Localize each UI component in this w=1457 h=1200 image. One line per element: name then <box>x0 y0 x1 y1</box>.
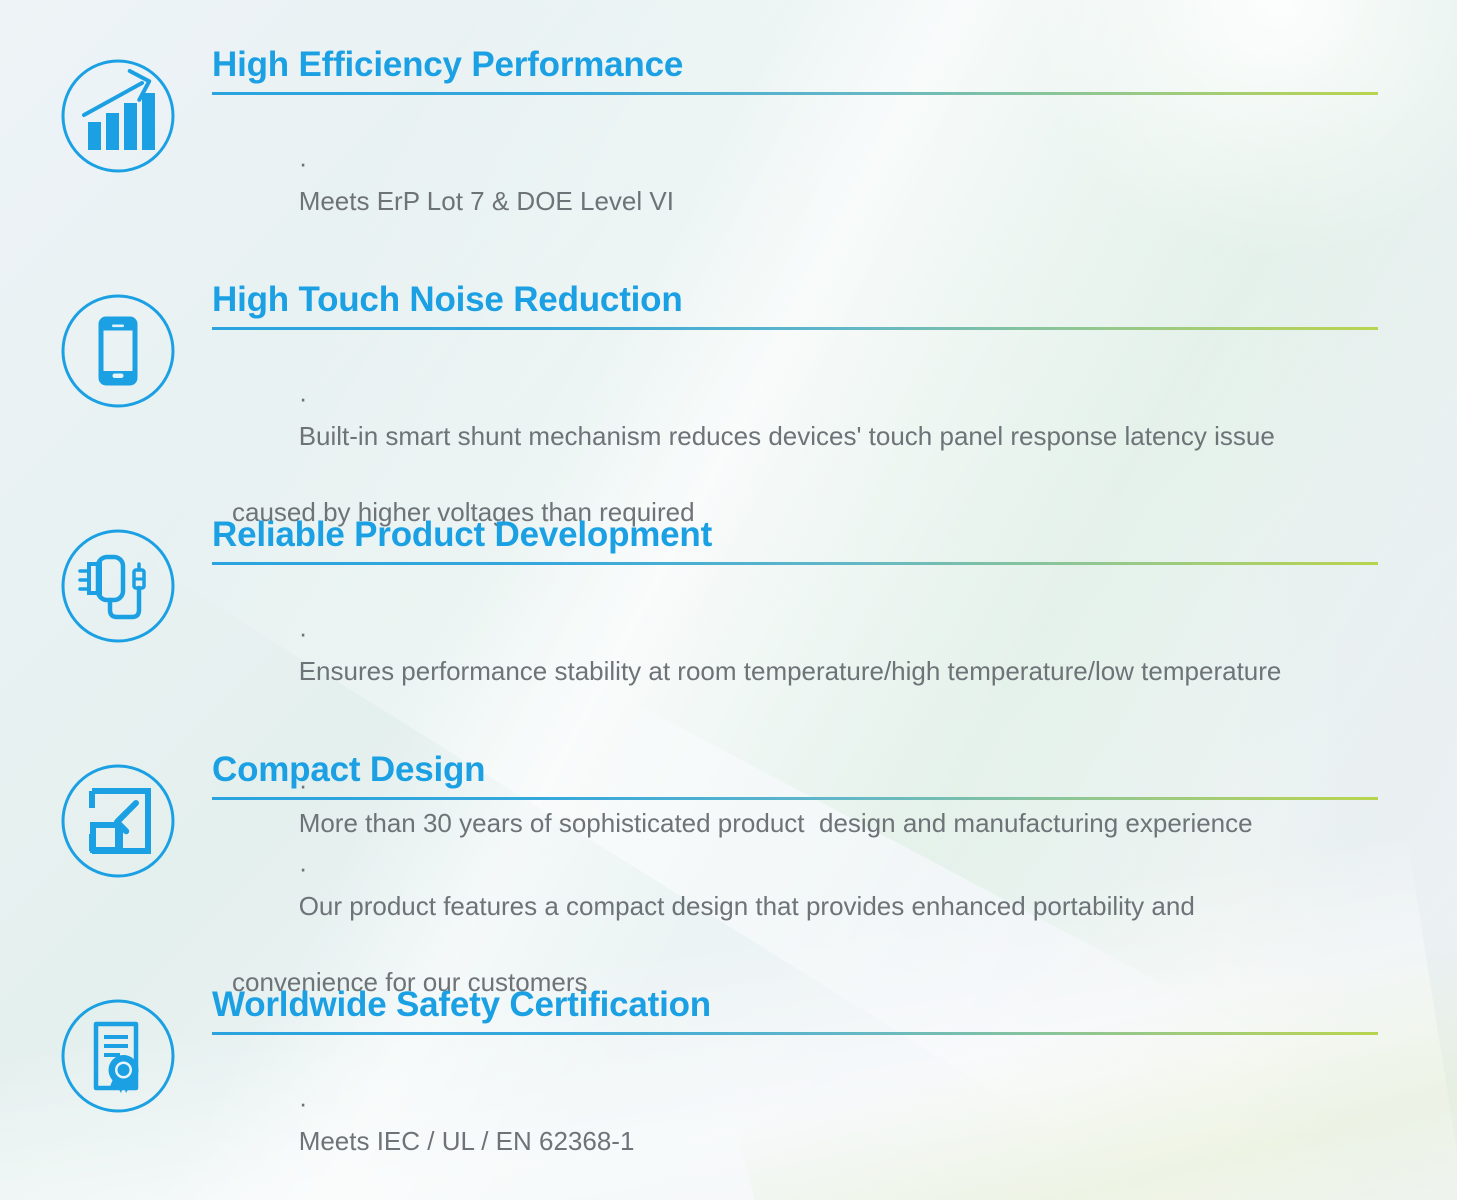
bullet-text: Meets ErP Lot 7 & DOE Level VI <box>299 186 674 216</box>
feature-divider <box>212 92 1378 95</box>
bullet-marker: · <box>299 853 308 883</box>
feature-divider <box>212 327 1378 330</box>
bullet-marker: · <box>299 1088 308 1118</box>
power-adapter-icon <box>58 526 178 646</box>
features-container: High Efficiency Performance · Meets ErP … <box>0 0 1457 1200</box>
feature-title: High Efficiency Performance <box>212 44 1382 86</box>
smartphone-icon <box>58 291 178 411</box>
feature-bullets: · Meets IEC / UL / EN 62368-1 <box>212 1046 1382 1198</box>
feature-divider <box>212 797 1378 800</box>
bullet-item: · Meets ErP Lot 7 & DOE Level VI <box>212 106 1382 258</box>
bullet-text: Meets IEC / UL / EN 62368-1 <box>299 1126 635 1156</box>
feature-title: Worldwide Safety Certification <box>212 984 1382 1026</box>
bullet-item: · Meets IEC / UL / EN 62368-1 <box>212 1046 1382 1198</box>
feature-bullets: · Meets ErP Lot 7 & DOE Level VI <box>212 106 1382 258</box>
feature-body: High Efficiency Performance · Meets ErP … <box>212 44 1382 258</box>
bullet-text: Ensures performance stability at room te… <box>299 656 1282 686</box>
feature-title: Reliable Product Development <box>212 514 1382 556</box>
bullet-marker: · <box>299 618 308 648</box>
feature-divider <box>212 562 1378 565</box>
bullet-item: · Ensures performance stability at room … <box>212 576 1382 728</box>
feature-divider <box>212 1032 1378 1035</box>
bullet-text: Built-in smart shunt mechanism reduces d… <box>299 421 1275 451</box>
bar-chart-growth-icon <box>58 56 178 176</box>
certificate-award-icon <box>58 996 178 1116</box>
bullet-marker: · <box>299 148 308 178</box>
bullet-marker: · <box>299 383 308 413</box>
compact-resize-icon <box>58 761 178 881</box>
feature-title: High Touch Noise Reduction <box>212 279 1382 321</box>
feature-title: Compact Design <box>212 749 1382 791</box>
feature-list-page: High Efficiency Performance · Meets ErP … <box>0 0 1457 1200</box>
bullet-text: Our product features a compact design th… <box>299 891 1195 921</box>
feature-body: Worldwide Safety Certification · Meets I… <box>212 984 1382 1198</box>
